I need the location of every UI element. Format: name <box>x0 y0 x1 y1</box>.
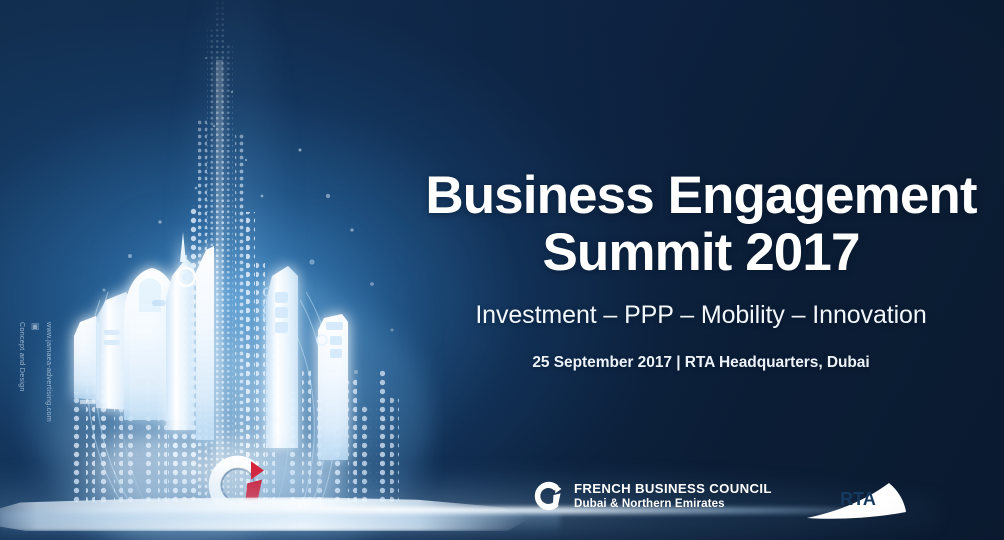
poster-subtitle: Investment – PPP – Mobility – Innovation <box>418 301 984 330</box>
tower-6 <box>264 266 299 448</box>
right-dot-columns <box>288 356 399 502</box>
cci-c-logo-icon <box>533 480 565 512</box>
central-spire <box>168 0 275 500</box>
poster-text-block: Business Engagement Summit 2017 Investme… <box>418 168 984 372</box>
cci-red-white-logo-icon <box>209 456 264 515</box>
tower-3 <box>124 268 178 420</box>
bokeh-particles <box>86 57 393 422</box>
rta-swoosh-icon: RTA <box>803 478 908 524</box>
rta-logo: RTA <box>803 478 908 529</box>
rta-wordmark: RTA <box>840 489 876 509</box>
headline-line-1: Business Engagement <box>425 166 976 225</box>
skyline-glow <box>95 200 435 530</box>
design-credit: Concept and Design ▣ www.jamaea-advertis… <box>18 322 42 522</box>
page-title: Business Engagement Summit 2017 <box>418 168 984 281</box>
credit-label: Concept and Design <box>18 322 27 392</box>
left-dot-columns <box>72 348 181 502</box>
dubai-skyline-illustration <box>0 0 480 540</box>
fbc-region: Dubai & Northern Emirates <box>574 497 772 510</box>
jamaea-monogram-icon: ▣ <box>31 322 41 332</box>
tower-1 <box>74 316 99 404</box>
credit-website: www.jamaea-advertising.com <box>45 322 54 422</box>
fbc-name: FRENCH BUSINESS COUNCIL <box>574 482 772 497</box>
sponsor-logo-row: FRENCH BUSINESS COUNCIL Dubai & Northern… <box>418 478 984 530</box>
tower-2 <box>96 292 132 410</box>
headline-line-2: Summit 2017 <box>418 225 984 282</box>
spire-glow <box>175 0 295 490</box>
tower-4-observation <box>166 232 195 430</box>
event-poster: Business Engagement Summit 2017 Investme… <box>0 0 1004 540</box>
tower-5 <box>196 246 214 440</box>
tower-7 <box>317 314 348 460</box>
event-details: 25 September 2017 | RTA Headquarters, Du… <box>418 354 984 372</box>
french-business-council-logo: FRENCH BUSINESS COUNCIL Dubai & Northern… <box>533 480 772 512</box>
